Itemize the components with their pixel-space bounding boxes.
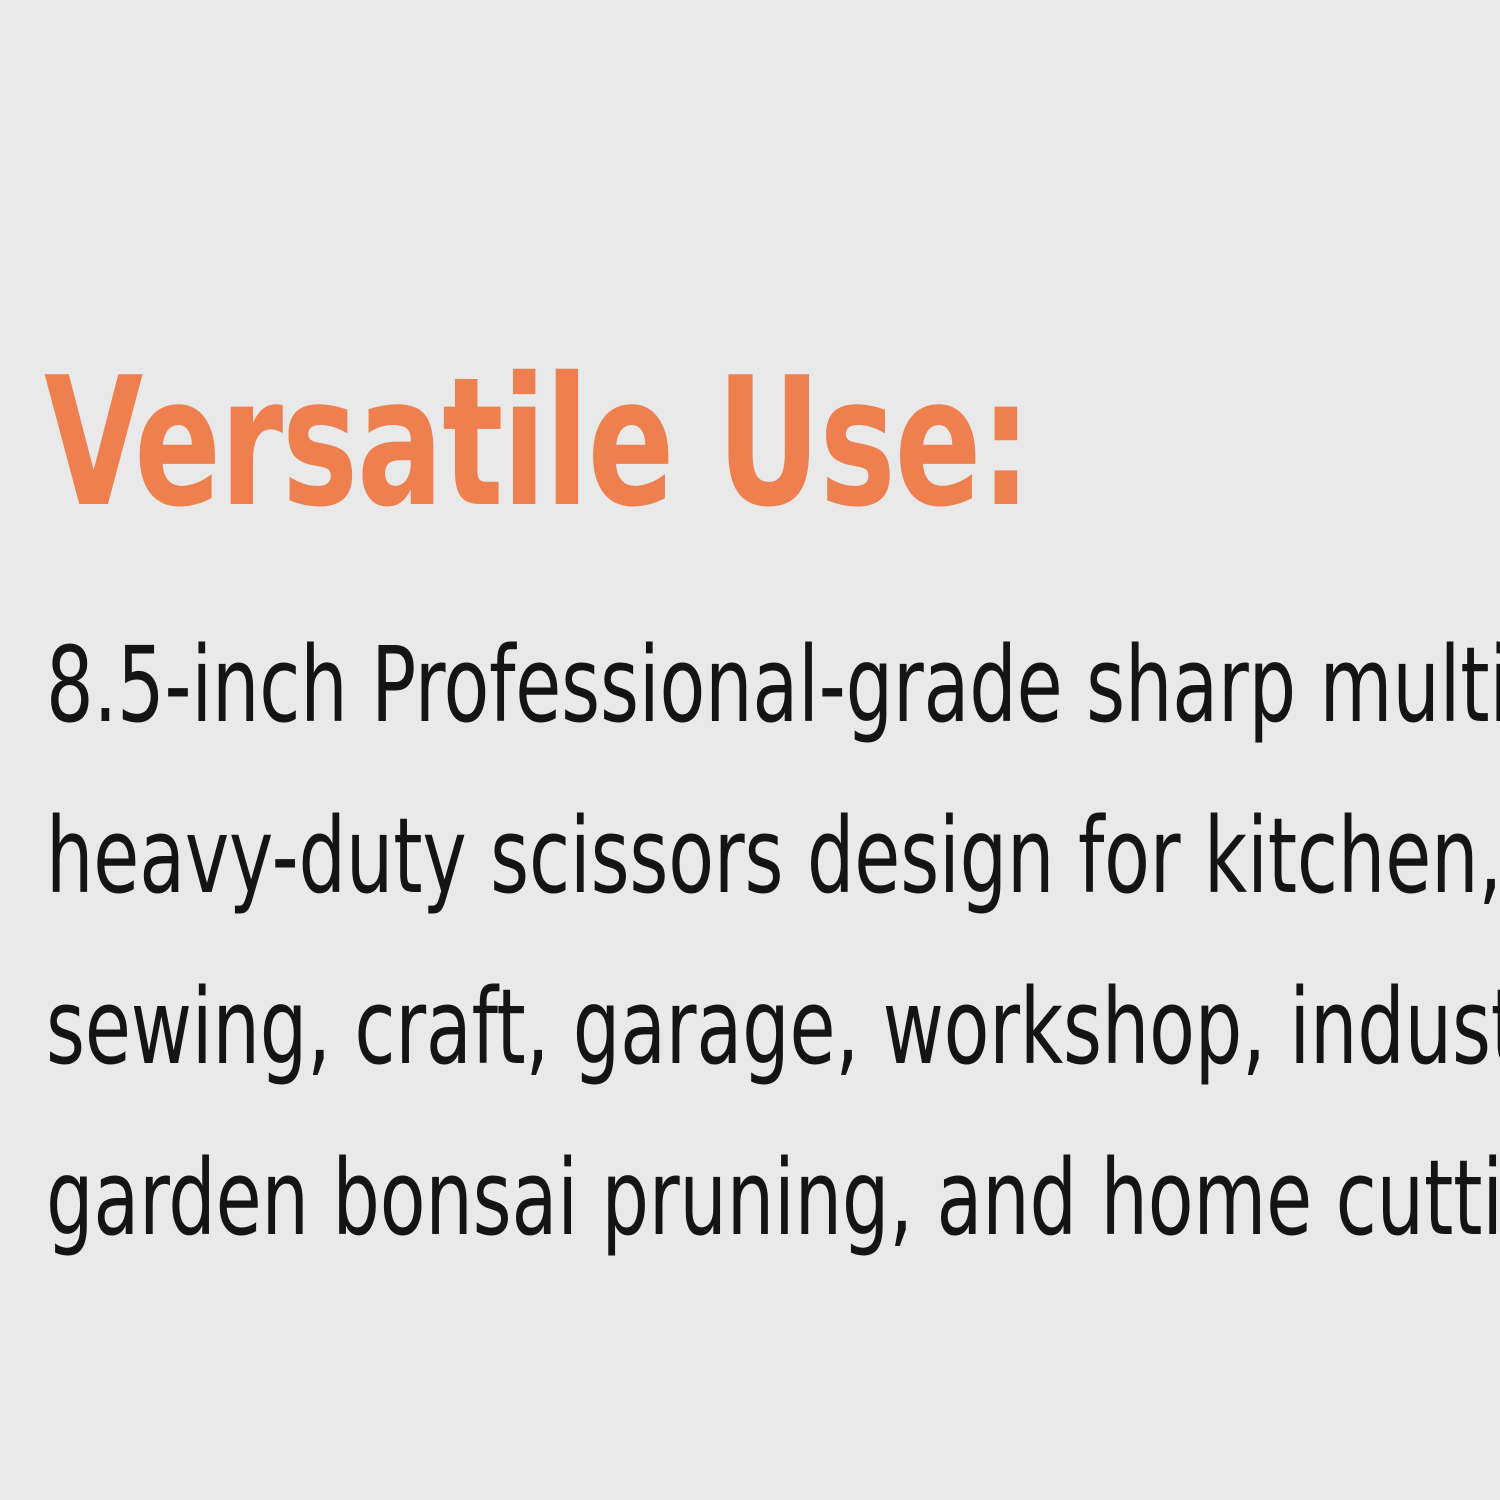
description-line: 8.5-inch Professional-grade sharp multip… [46,600,1486,771]
description-line: heavy-duty scissors design for kitchen, … [46,771,1486,942]
product-feature-card: Versatile Use: 8.5-inch Professional-gra… [0,0,1500,1500]
page-title: Versatile Use: [44,352,1030,534]
feature-description: 8.5-inch Professional-grade sharp multip… [46,600,1486,1284]
description-line: garden bonsai pruning, and home cutting … [46,1113,1486,1284]
description-line: sewing, craft, garage, workshop, industr… [46,942,1486,1113]
